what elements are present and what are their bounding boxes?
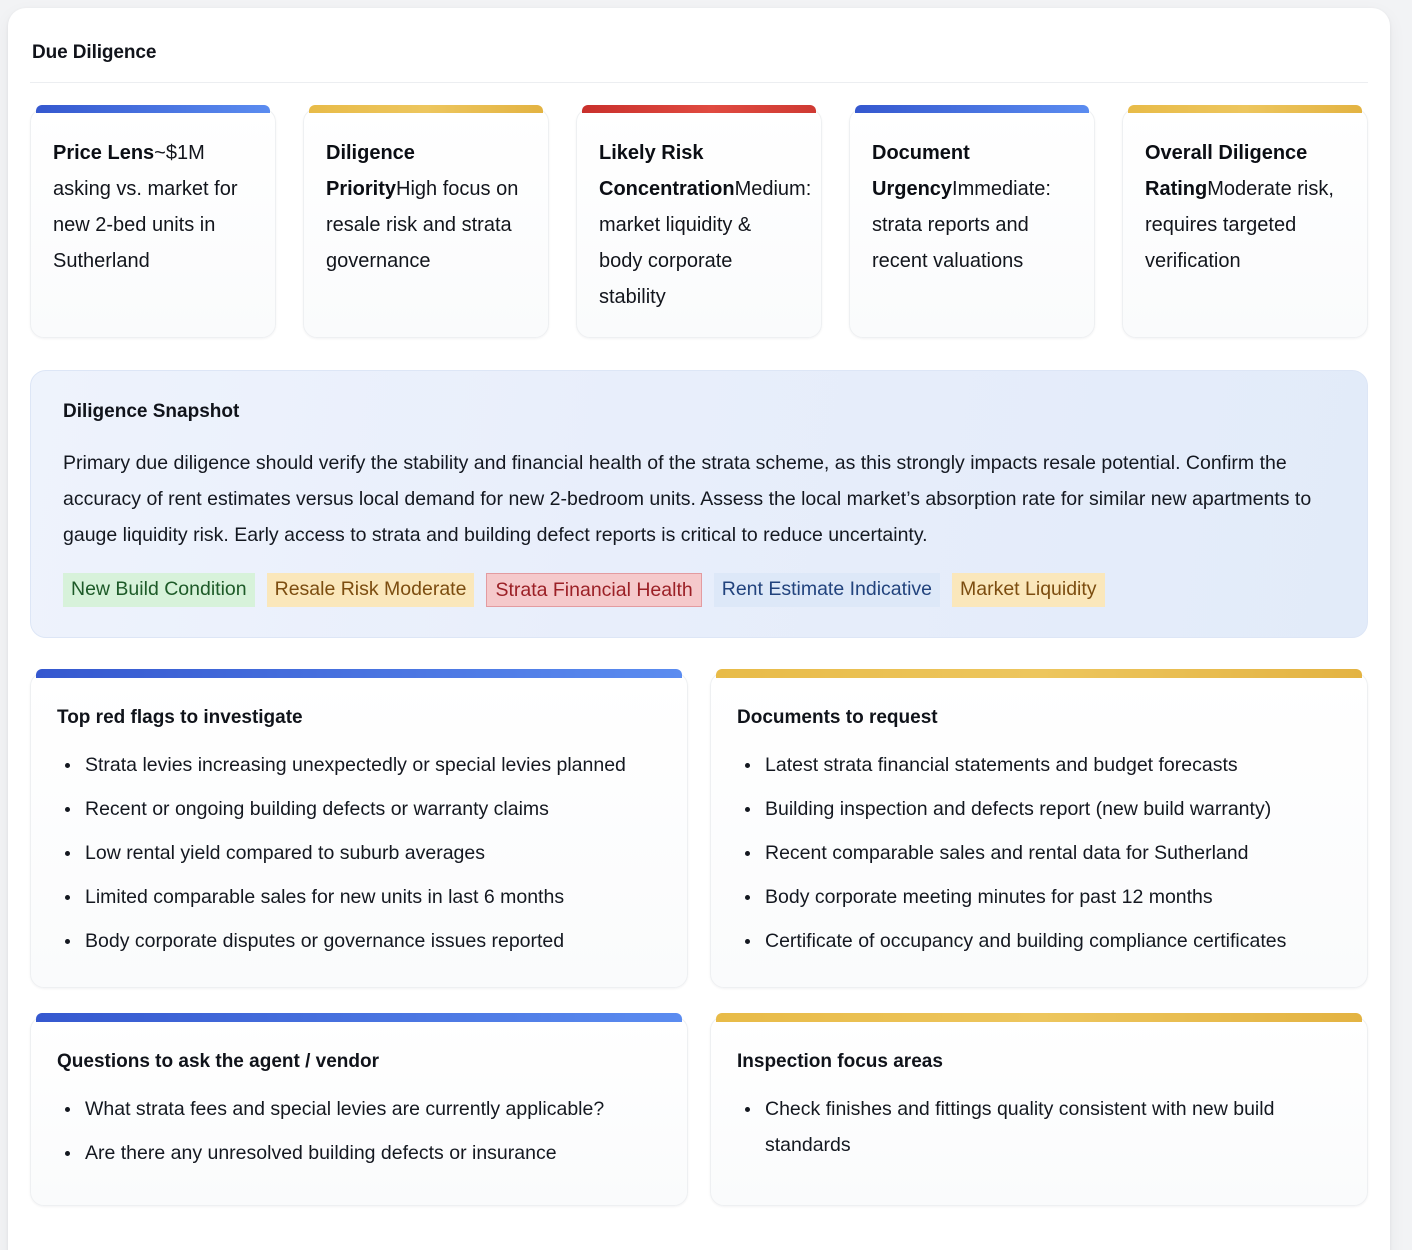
bullet-list: Strata levies increasing unexpectedly or…: [57, 747, 661, 959]
snapshot-title: Diligence Snapshot: [63, 401, 1337, 423]
list-item: Are there any unresolved building defect…: [57, 1135, 661, 1171]
kpi-card-text: Diligence PriorityHigh focus on resale r…: [326, 135, 526, 279]
list-item: Recent or ongoing building defects or wa…: [57, 791, 661, 827]
tag-chip-new-build-condition[interactable]: New Build Condition: [63, 573, 255, 607]
accent-bar: [36, 1013, 682, 1022]
page-title: Due Diligence: [32, 42, 1366, 64]
list-item: Recent comparable sales and rental data …: [737, 835, 1341, 871]
accent-bar: [36, 105, 270, 113]
tag-chip-market-liquidity[interactable]: Market Liquidity: [952, 573, 1105, 607]
accent-bar: [582, 105, 816, 113]
kpi-card-text: Overall Diligence RatingModerate risk, r…: [1145, 135, 1345, 279]
accent-bar: [855, 105, 1089, 113]
kpi-label: Likely Risk Concentration: [599, 142, 735, 200]
kpi-card-document-urgency: Document UrgencyImmediate: strata report…: [849, 108, 1095, 338]
kpi-card-likely-risk-concentration: Likely Risk ConcentrationMedium: market …: [576, 108, 822, 338]
tag-chip-rent-estimate-indicative[interactable]: Rent Estimate Indicative: [714, 573, 940, 607]
list-item: Body corporate disputes or governance is…: [57, 923, 661, 959]
snapshot-body: Primary due diligence should verify the …: [63, 445, 1337, 553]
accent-bar: [716, 669, 1362, 678]
card-title: Questions to ask the agent / vendor: [57, 1051, 661, 1073]
accent-bar: [309, 105, 543, 113]
bullet-list: What strata fees and special levies are …: [57, 1091, 661, 1171]
accent-bar: [36, 669, 682, 678]
tag-chip-strata-financial-health[interactable]: Strata Financial Health: [486, 573, 701, 607]
list-item: Latest strata financial statements and b…: [737, 747, 1341, 783]
kpi-card-text: Likely Risk ConcentrationMedium: market …: [599, 135, 799, 315]
list-item: Strata levies increasing unexpectedly or…: [57, 747, 661, 783]
panel-header: Due Diligence: [30, 8, 1368, 83]
kpi-card-overall-diligence-rating: Overall Diligence RatingModerate risk, r…: [1122, 108, 1368, 338]
screen: Due Diligence Price Lens~$1M asking vs. …: [0, 0, 1412, 1250]
list-item: Body corporate meeting minutes for past …: [737, 879, 1341, 915]
diligence-snapshot-panel: Diligence Snapshot Primary due diligence…: [30, 370, 1368, 638]
bullet-list: Latest strata financial statements and b…: [737, 747, 1341, 959]
kpi-label: Price Lens: [53, 142, 154, 164]
bullet-list: Check finishes and fittings quality cons…: [737, 1091, 1341, 1163]
list-item: Certificate of occupancy and building co…: [737, 923, 1341, 959]
detail-card-row-2: Questions to ask the agent / vendor What…: [30, 1016, 1368, 1206]
snapshot-tag-list: New Build Condition Resale Risk Moderate…: [63, 573, 1337, 607]
list-item: Limited comparable sales for new units i…: [57, 879, 661, 915]
card-inspection-focus-areas: Inspection focus areas Check finishes an…: [710, 1016, 1368, 1206]
card-documents-to-request: Documents to request Latest strata finan…: [710, 672, 1368, 988]
list-item: Low rental yield compared to suburb aver…: [57, 835, 661, 871]
due-diligence-panel: Due Diligence Price Lens~$1M asking vs. …: [8, 8, 1390, 1250]
accent-bar: [1128, 105, 1362, 113]
card-title: Inspection focus areas: [737, 1051, 1341, 1073]
list-item: Check finishes and fittings quality cons…: [737, 1091, 1341, 1163]
kpi-card-price-lens: Price Lens~$1M asking vs. market for new…: [30, 108, 276, 338]
detail-card-row-1: Top red flags to investigate Strata levi…: [30, 672, 1368, 988]
kpi-card-text: Price Lens~$1M asking vs. market for new…: [53, 135, 253, 279]
card-title: Top red flags to investigate: [57, 707, 661, 729]
kpi-card-diligence-priority: Diligence PriorityHigh focus on resale r…: [303, 108, 549, 338]
kpi-card-row: Price Lens~$1M asking vs. market for new…: [30, 108, 1368, 338]
card-questions-to-ask: Questions to ask the agent / vendor What…: [30, 1016, 688, 1206]
kpi-card-text: Document UrgencyImmediate: strata report…: [872, 135, 1072, 279]
list-item: Building inspection and defects report (…: [737, 791, 1341, 827]
tag-chip-resale-risk-moderate[interactable]: Resale Risk Moderate: [267, 573, 475, 607]
list-item: What strata fees and special levies are …: [57, 1091, 661, 1127]
accent-bar: [716, 1013, 1362, 1022]
card-title: Documents to request: [737, 707, 1341, 729]
card-top-red-flags: Top red flags to investigate Strata levi…: [30, 672, 688, 988]
